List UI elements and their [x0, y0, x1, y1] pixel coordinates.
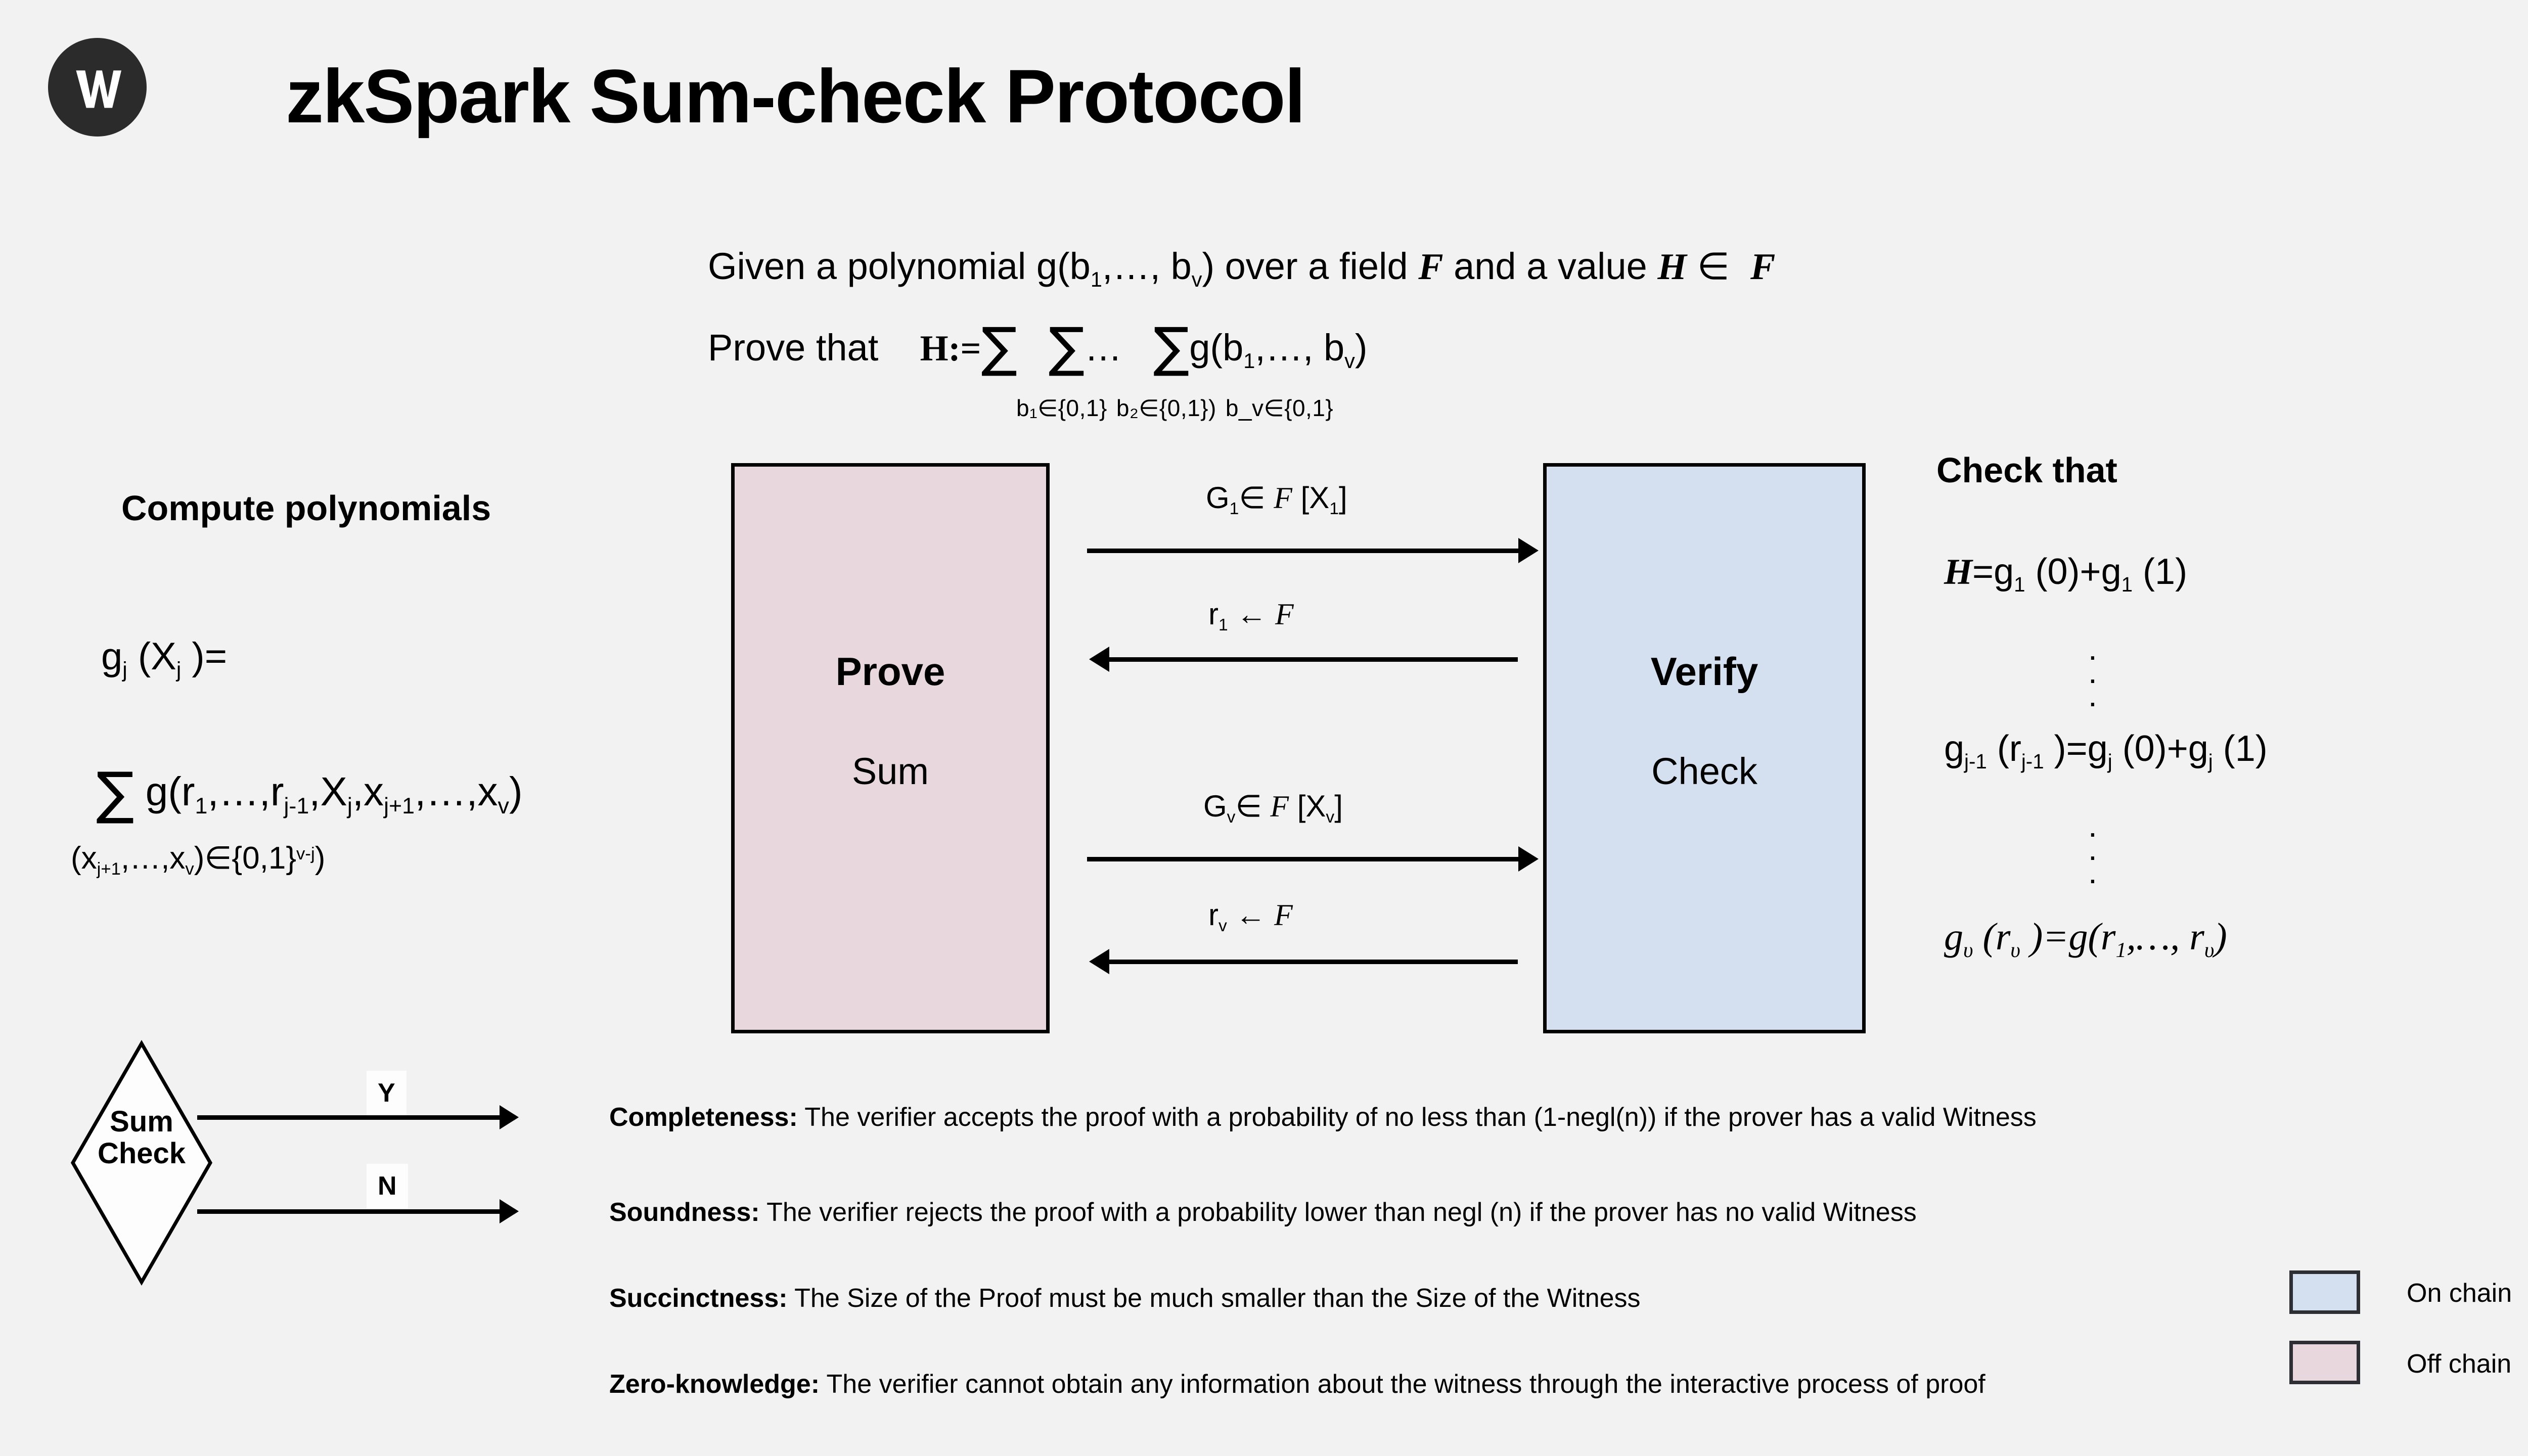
- msg1-rest: ∈: [1239, 481, 1274, 515]
- msg1-tail-sub: 1: [1329, 499, 1339, 518]
- sumsub-d: ): [315, 841, 326, 876]
- property-text-soundness: The verifier rejects the proof with a pr…: [760, 1198, 1917, 1227]
- eq3-s1: υ: [1963, 938, 1973, 962]
- decision-label-line1: Sum: [56, 1106, 228, 1138]
- eq3-s2: υ: [2010, 938, 2020, 962]
- property-term-soundness: Soundness:: [609, 1198, 760, 1227]
- h-definition: H:=: [920, 328, 981, 369]
- eq3-d: ,…, r: [2127, 916, 2204, 958]
- legend-swatch-on-chain: [2289, 1270, 2360, 1314]
- eq2-e: (1): [2213, 729, 2268, 769]
- msg3-sub: v: [1227, 808, 1236, 827]
- w-letter-icon: [69, 59, 126, 116]
- eq2-c: )=g: [2044, 729, 2108, 769]
- property-text-zero-knowledge: The verifier cannot obtain any informati…: [820, 1370, 1985, 1399]
- msg3-tail: [X: [1289, 789, 1326, 823]
- gj-sum-formula: ∑ g(r1,…,rj-1,Xj,xj+1,…,xv): [96, 753, 523, 819]
- sum-sub-j: j: [347, 793, 352, 818]
- g-expr-c: ): [1355, 327, 1368, 369]
- sum-body-a: g(r: [134, 769, 195, 814]
- gj-sum-index-condition: (xj+1,…,xv)∈{0,1}v-j): [71, 839, 325, 876]
- msg1-field: F: [1274, 481, 1292, 515]
- message-label-g1: G1∈ F [X1]: [1206, 480, 1347, 516]
- sumsub-v: v: [185, 859, 194, 879]
- vdot-1c: .: [2088, 684, 2097, 707]
- property-term-succinctness: Succinctness:: [609, 1284, 788, 1313]
- message-label-gv: Gv∈ F [Xv]: [1203, 789, 1343, 824]
- eq2-s3: j: [2108, 750, 2112, 773]
- check-that-heading: Check that: [1936, 450, 2117, 490]
- sum-index-v: b_v∈{0,1}: [1226, 395, 1333, 421]
- eq1-h: H: [1944, 552, 1972, 592]
- msg2-field: F: [1275, 598, 1294, 631]
- legend-swatch-off-chain: [2289, 1341, 2360, 1384]
- sum-sub-jm1: j-1: [284, 793, 309, 818]
- gj-close: )=: [181, 635, 227, 678]
- legend-label-on-chain: On chain: [2407, 1278, 2512, 1308]
- msg2-rest: ←: [1228, 597, 1275, 631]
- g-expr-sub-v: v: [1344, 349, 1355, 373]
- eq2-s4: j: [2208, 750, 2213, 773]
- msg1-end: ]: [1339, 481, 1347, 515]
- sumsub-sup: v-j: [296, 844, 315, 863]
- decision-label-line2: Check: [56, 1138, 228, 1170]
- eq1-s1: 1: [2014, 573, 2025, 596]
- gj-g: g: [101, 635, 122, 678]
- eq3-s3: 1: [2115, 938, 2126, 962]
- property-term-completeness: Completeness:: [609, 1103, 798, 1132]
- msg4-sub: v: [1218, 917, 1227, 935]
- eq3-e: ): [2214, 916, 2227, 958]
- eq3-c: )=g(r: [2020, 916, 2115, 958]
- msg1-main: G: [1206, 481, 1230, 515]
- sum-check-decision-node[interactable]: Sum Check: [71, 1041, 212, 1284]
- given-sub-1: 1: [1091, 267, 1102, 291]
- arrow-verifier-to-prover-1: [1108, 657, 1518, 662]
- prover-title: Prove: [735, 649, 1046, 695]
- vertical-dots-2: . . .: [2088, 814, 2097, 884]
- vdot-2c: .: [2088, 860, 2097, 884]
- sigma-icon-left: ∑: [96, 760, 134, 826]
- msg4-field: F: [1274, 898, 1293, 932]
- eq1-b: (0)+g: [2025, 552, 2121, 592]
- sigma-icon-3: ∑: [1153, 316, 1189, 378]
- check-equation-1: H=g1 (0)+g1 (1): [1944, 551, 2187, 593]
- given-text-d: and a value: [1443, 245, 1658, 287]
- zkspark-logo: [48, 38, 147, 136]
- sum-index-1: b₁∈{0,1}: [1016, 395, 1107, 421]
- eq1-s2: 1: [2121, 573, 2133, 596]
- msg4-rest: ←: [1227, 898, 1274, 932]
- branch-label-no: N: [367, 1164, 408, 1208]
- eq3-s4: υ: [2204, 938, 2215, 962]
- g-expr-sub-1: 1: [1243, 349, 1255, 373]
- branch-label-yes: Y: [367, 1071, 407, 1115]
- legend-label-off-chain: Off chain: [2407, 1349, 2511, 1379]
- field-symbol: F: [1418, 246, 1443, 288]
- given-text-b: ,…, b: [1102, 245, 1192, 287]
- sigma-icon-1: ∑: [981, 316, 1017, 378]
- gj-sub-j: j: [122, 658, 127, 682]
- sumsub-a: (x: [71, 841, 97, 876]
- check-equation-2: gj-1 (rj-1 )=gj (0)+gj (1): [1944, 728, 2268, 769]
- given-sub-v: v: [1192, 267, 1202, 291]
- g-expr-a: g(b: [1189, 327, 1243, 369]
- prove-that-label: Prove that: [708, 327, 878, 369]
- eq3-a: g: [1944, 916, 1963, 958]
- property-text-completeness: The verifier accepts the proof with a pr…: [798, 1103, 2037, 1132]
- sumsub-b: ,…,x: [121, 841, 185, 876]
- msg4-main: r: [1208, 898, 1218, 932]
- arrow-prover-to-verifier-v: [1087, 857, 1519, 861]
- element-of-icon: ∈: [1697, 245, 1729, 287]
- given-text-a: Given a polynomial g(b: [708, 245, 1091, 287]
- arrow-prover-to-verifier-1: [1087, 549, 1519, 553]
- statement-prove: Prove that H:=∑ ∑… ∑g(b1,…, bv): [708, 324, 1367, 367]
- branch-arrow-yes: [197, 1115, 501, 1120]
- compute-polynomials-heading: Compute polynomials: [121, 488, 491, 528]
- verifier-title: Verify: [1547, 649, 1862, 695]
- sum-index-conditions: b₁∈{0,1}b₂∈{0,1})b_v∈{0,1}: [1016, 394, 1342, 422]
- eq2-s2: j-1: [2021, 750, 2044, 773]
- property-completeness: Completeness: The verifier accepts the p…: [609, 1102, 2037, 1132]
- msg2-sub: 1: [1218, 616, 1228, 634]
- sum-index-2: b₂∈{0,1}): [1116, 395, 1216, 421]
- eq1-a: =g: [1972, 552, 2014, 592]
- gj-formula: gj (Xj )=: [101, 634, 227, 678]
- property-zero-knowledge: Zero-knowledge: The verifier cannot obta…: [609, 1369, 1985, 1399]
- sum-sub-1: 1: [195, 793, 207, 818]
- property-term-zero-knowledge: Zero-knowledge:: [609, 1370, 820, 1399]
- msg3-field: F: [1270, 790, 1289, 823]
- verifier-subtitle: Check: [1547, 750, 1862, 793]
- gj-open: (X: [127, 635, 176, 678]
- g-expr-b: ,…, b: [1255, 327, 1344, 369]
- h-symbol: H: [1657, 246, 1687, 288]
- gj-x-sub-j: j: [176, 658, 181, 682]
- branch-arrow-no: [197, 1209, 501, 1214]
- sum-body-d: ,x: [352, 769, 384, 814]
- eq3-b: (r: [1973, 916, 2011, 958]
- eq2-d: (0)+g: [2112, 729, 2208, 769]
- msg3-end: ]: [1334, 789, 1343, 823]
- ellipsis-text: …: [1085, 327, 1122, 369]
- sigma-icon-2: ∑: [1049, 316, 1085, 378]
- field-symbol-2: F: [1750, 246, 1775, 288]
- msg1-tail: [X: [1292, 481, 1329, 515]
- property-text-succinctness: The Size of the Proof must be much small…: [788, 1284, 1641, 1313]
- page-title: zkSpark Sum-check Protocol: [286, 58, 1304, 134]
- prover-box[interactable]: Prove Sum: [731, 463, 1050, 1033]
- property-soundness: Soundness: The verifier rejects the proo…: [609, 1197, 1917, 1227]
- msg2-main: r: [1208, 597, 1218, 631]
- sumsub-c: )∈{0,1}: [194, 841, 296, 876]
- eq1-c: (1): [2133, 552, 2187, 592]
- arrow-verifier-to-prover-v: [1108, 960, 1518, 964]
- property-succinctness: Succinctness: The Size of the Proof must…: [609, 1283, 1641, 1313]
- msg1-sub: 1: [1230, 499, 1239, 518]
- sumsub-jp1: j+1: [97, 859, 121, 879]
- eq2-a: g: [1944, 729, 1964, 769]
- msg3-main: G: [1203, 789, 1227, 823]
- vertical-dots-1: . . .: [2088, 637, 2097, 707]
- msg3-rest: ∈: [1235, 789, 1270, 823]
- verifier-box[interactable]: Verify Check: [1543, 463, 1866, 1033]
- sum-body-f: ): [509, 769, 523, 814]
- sum-sub-jp1: j+1: [384, 793, 415, 818]
- sum-body-c: ,X: [309, 769, 347, 814]
- given-text-c: ) over a field: [1202, 245, 1418, 287]
- sum-body-b: ,…,r: [207, 769, 284, 814]
- prover-subtitle: Sum: [735, 750, 1046, 793]
- check-equation-v: gυ (rυ )=g(r1,…, rυ): [1944, 915, 2227, 959]
- sum-body-e: ,…,x: [415, 769, 498, 814]
- sum-sub-v: v: [498, 793, 509, 818]
- statement-given: Given a polynomial g(b1,…, bv) over a fi…: [708, 248, 1775, 286]
- msg3-tail-sub: v: [1326, 808, 1334, 827]
- eq2-b: (r: [1987, 729, 2021, 769]
- message-label-r1: r1 ← F: [1208, 597, 1294, 632]
- message-label-rv: rv ← F: [1208, 897, 1293, 933]
- eq2-s1: j-1: [1964, 750, 1987, 773]
